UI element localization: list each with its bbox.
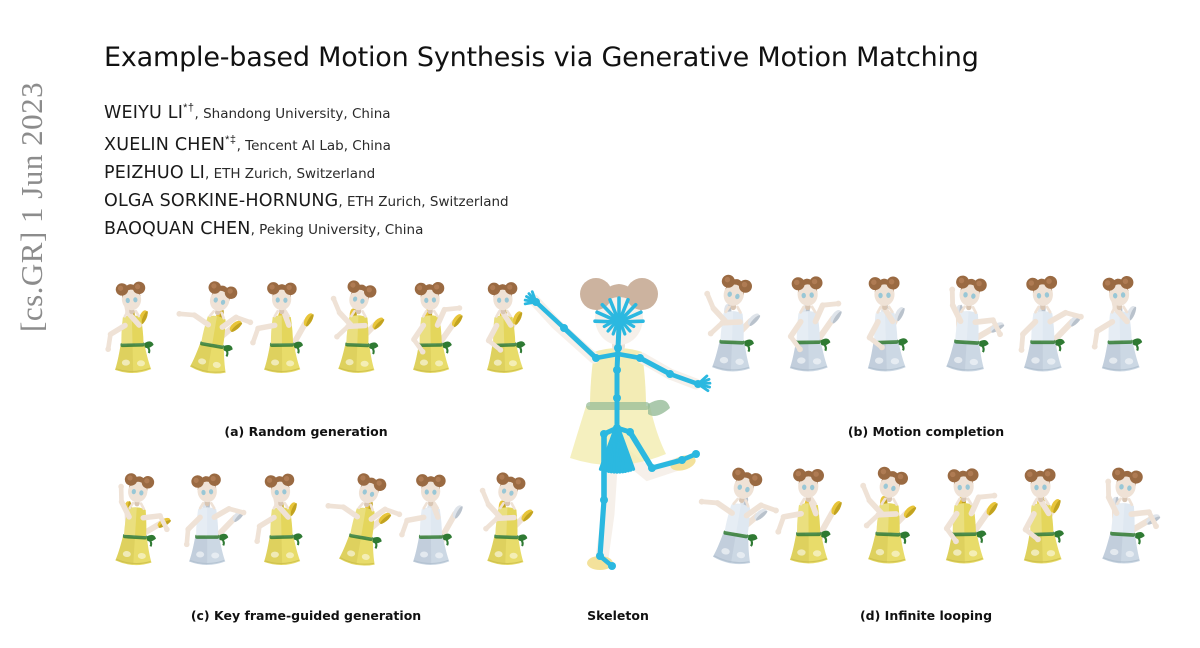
- character-pose: [319, 273, 393, 422]
- figure-caption-skeleton: Skeleton: [520, 608, 716, 623]
- teaser-figure: (a) Random generation: [96, 262, 1160, 640]
- page-title: Example-based Motion Synthesis via Gener…: [104, 42, 1174, 73]
- skeleton-bones: [525, 292, 710, 570]
- character-pose: [394, 465, 468, 614]
- author-name: XUELIN CHEN: [104, 135, 225, 155]
- character-pose: [770, 459, 848, 614]
- character-pose: [1004, 267, 1082, 422]
- author-name: OLGA SORKINE-HORNUNG: [104, 191, 338, 211]
- skeleton-panel: [520, 278, 716, 608]
- author-row: BAOQUAN CHEN, Peking University, China: [104, 215, 1174, 243]
- author-footnote-marks: *†: [183, 102, 194, 114]
- author-name: WEIYU LI: [104, 103, 183, 123]
- author-affiliation: , Tencent AI Lab, China: [237, 138, 391, 154]
- author-affiliation: , ETH Zurich, Switzerland: [205, 166, 375, 182]
- author-list: WEIYU LI*†, Shandong University, ChinaXU…: [104, 95, 1174, 243]
- character-pose: [848, 459, 926, 614]
- author-row: XUELIN CHEN*‡, Tencent AI Lab, China: [104, 127, 1174, 159]
- pose-strip-key-frame-guided-generation: [96, 454, 516, 614]
- author-affiliation: , Peking University, China: [251, 222, 424, 238]
- character-pose: [245, 465, 319, 614]
- character-pose: [96, 273, 170, 422]
- author-name: BAOQUAN CHEN: [104, 219, 251, 239]
- character-pose: [170, 273, 244, 422]
- character-pose: [770, 267, 848, 422]
- figure-caption-key-frame-guided-generation: (c) Key frame-guided generation: [96, 608, 516, 623]
- author-affiliation: , Shandong University, China: [195, 106, 391, 122]
- figure-caption-infinite-looping: (d) Infinite looping: [692, 608, 1160, 623]
- arxiv-stamp: [cs.GR] 1 Jun 2023: [0, 0, 64, 332]
- character-pose: [926, 459, 1004, 614]
- character-pose: [170, 465, 244, 614]
- character-pose: [245, 273, 319, 422]
- character-pose: [319, 465, 393, 614]
- skeleton-rig-figure: [520, 278, 716, 596]
- character-pose: [96, 465, 170, 614]
- pose-strip-infinite-looping: [692, 454, 1160, 614]
- author-row: WEIYU LI*†, Shandong University, China: [104, 95, 1174, 127]
- pose-strip-random-generation: [96, 262, 516, 422]
- author-name: PEIZHUO LI: [104, 163, 205, 183]
- figure-caption-random-generation: (a) Random generation: [96, 424, 516, 439]
- author-affiliation: , ETH Zurich, Switzerland: [338, 194, 508, 210]
- paper-header: Example-based Motion Synthesis via Gener…: [104, 42, 1174, 243]
- author-row: OLGA SORKINE-HORNUNG, ETH Zurich, Switze…: [104, 187, 1174, 215]
- character-pose: [394, 273, 468, 422]
- author-footnote-marks: *‡: [225, 134, 236, 146]
- character-pose: [1004, 459, 1082, 614]
- figure-caption-motion-completion: (b) Motion completion: [692, 424, 1160, 439]
- character-pose: [1082, 459, 1160, 614]
- character-pose: [848, 267, 926, 422]
- author-row: PEIZHUO LI, ETH Zurich, Switzerland: [104, 159, 1174, 187]
- character-pose: [926, 267, 1004, 422]
- pose-strip-motion-completion: [692, 262, 1160, 422]
- character-pose: [1082, 267, 1160, 422]
